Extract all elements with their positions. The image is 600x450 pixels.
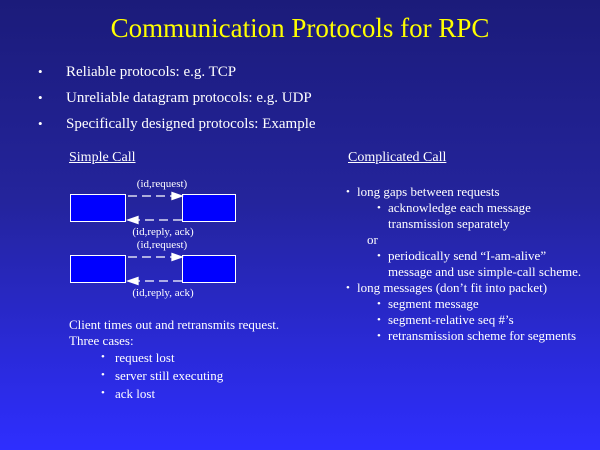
list-item: • ack lost: [101, 385, 349, 403]
list-item: • segment-relative seq #’s: [377, 312, 590, 328]
simple-call-notes: Client times out and retransmits request…: [69, 317, 349, 403]
bullet-icon: •: [377, 296, 388, 312]
section-heading-simple-call: Simple Call: [69, 149, 136, 166]
list-item-label: segment message: [388, 296, 479, 312]
note-line: Three cases:: [69, 333, 349, 349]
list-item: • Reliable protocols: e.g. TCP: [38, 62, 458, 88]
list-item: • periodically send “I-am-alive” message…: [377, 248, 590, 280]
list-item-label: segment-relative seq #’s: [388, 312, 514, 328]
diagram-label-request-1: (id,request): [120, 178, 204, 191]
diagram-box-server-1: [182, 194, 236, 222]
bullet-icon: •: [377, 312, 388, 328]
list-item: • long messages (don’t fit into packet): [346, 280, 590, 296]
bullet-icon: •: [101, 385, 115, 402]
bullet-icon: •: [377, 200, 388, 216]
list-item-label: retransmission scheme for segments: [388, 328, 576, 344]
list-item-label: acknowledge each message transmission se…: [388, 200, 590, 232]
list-item-label: Unreliable datagram protocols: e.g. UDP: [66, 88, 312, 108]
bullet-icon: •: [101, 349, 115, 366]
bullet-icon: •: [101, 367, 115, 384]
complicated-call-list: • long gaps between requests • acknowled…: [346, 184, 590, 344]
top-bullet-list: • Reliable protocols: e.g. TCP • Unrelia…: [38, 62, 458, 140]
bullet-icon: •: [377, 248, 388, 264]
list-item: • server still executing: [101, 367, 349, 385]
list-item: • segment message: [377, 296, 590, 312]
list-item: • retransmission scheme for segments: [377, 328, 590, 344]
list-item-label: periodically send “I-am-alive” message a…: [388, 248, 590, 280]
list-item-label: Reliable protocols: e.g. TCP: [66, 62, 236, 82]
bullet-icon: •: [377, 328, 388, 344]
bullet-icon: •: [38, 62, 66, 82]
list-item-or: or: [367, 232, 590, 248]
note-line: Client times out and retransmits request…: [69, 317, 349, 333]
list-item-label: ack lost: [115, 385, 155, 402]
bullet-icon: •: [346, 280, 357, 296]
list-item: • Unreliable datagram protocols: e.g. UD…: [38, 88, 458, 114]
diagram-box-client-2: [70, 255, 126, 283]
section-heading-complicated-call: Complicated Call: [348, 149, 446, 166]
simple-call-diagram: (id,request) (id,reply, ack) (id,request…: [60, 170, 340, 305]
bullet-icon: •: [38, 88, 66, 108]
list-item-label: server still executing: [115, 367, 223, 384]
diagram-label-reply-1: (id,reply, ack): [118, 226, 208, 239]
diagram-label-reply-2: (id,reply, ack): [118, 287, 208, 300]
slide-canvas: Communication Protocols for RPC • Reliab…: [0, 0, 600, 450]
bullet-icon: •: [38, 114, 66, 134]
diagram-box-server-2: [182, 255, 236, 283]
list-item-label: request lost: [115, 349, 175, 366]
list-item-label: long messages (don’t fit into packet): [357, 280, 547, 296]
list-item: • long gaps between requests: [346, 184, 590, 200]
list-item-label: Specifically designed protocols: Example: [66, 114, 316, 134]
list-item: • Specifically designed protocols: Examp…: [38, 114, 458, 140]
list-item-label: long gaps between requests: [357, 184, 500, 200]
page-title: Communication Protocols for RPC: [0, 12, 600, 44]
list-item: • request lost: [101, 349, 349, 367]
list-item: • acknowledge each message transmission …: [377, 200, 590, 232]
diagram-label-request-2: (id,request): [120, 239, 204, 252]
bullet-icon: •: [346, 184, 357, 200]
diagram-box-client-1: [70, 194, 126, 222]
